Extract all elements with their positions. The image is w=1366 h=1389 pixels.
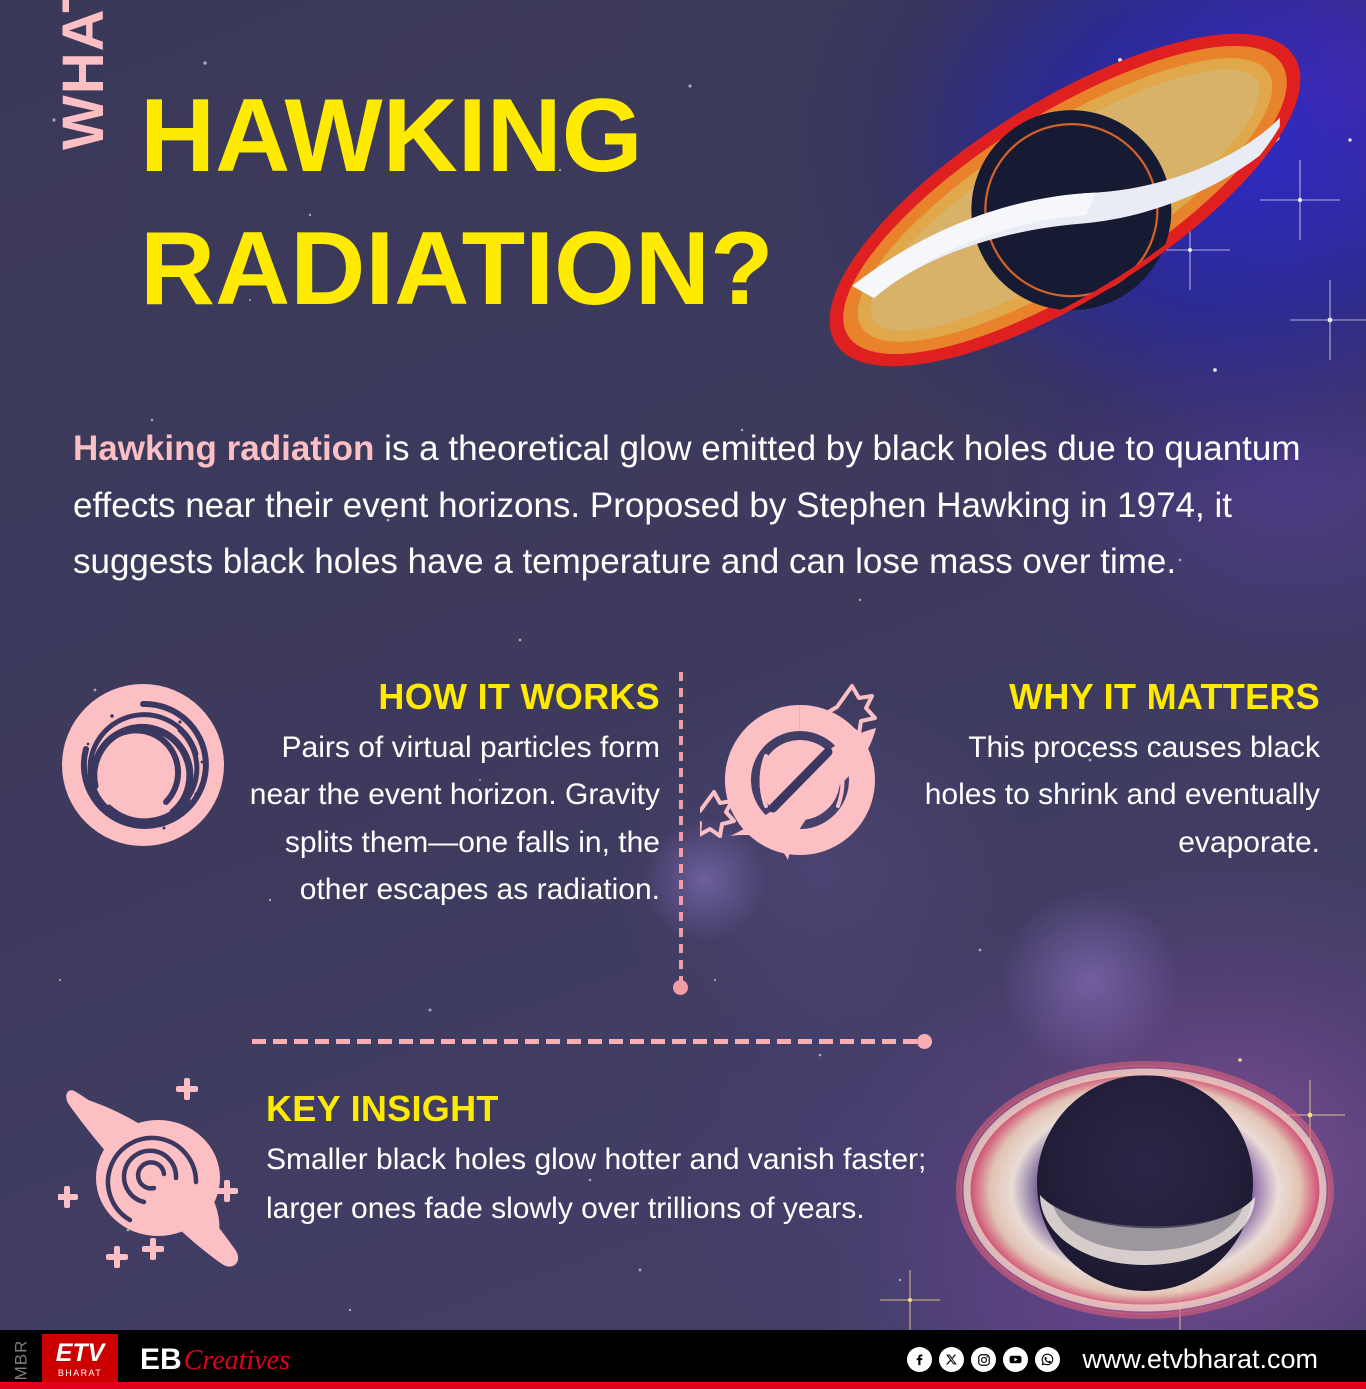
social-icons — [907, 1347, 1060, 1372]
x-twitter-icon[interactable] — [939, 1347, 964, 1372]
youtube-icon[interactable] — [1003, 1347, 1028, 1372]
spiral-galaxy-icon — [58, 1070, 258, 1280]
eb-text: EB — [140, 1343, 182, 1377]
facebook-icon[interactable] — [907, 1347, 932, 1372]
etv-logo-mark: ETV — [56, 1341, 105, 1366]
footer-bar: MBR ETV BHARAT EB Creatives — [0, 1330, 1366, 1389]
evaporating-black-hole-icon — [700, 680, 900, 880]
horizontal-dashed-divider — [252, 1039, 922, 1044]
horizontal-divider-end-dot — [917, 1034, 932, 1049]
website-url[interactable]: www.etvbharat.com — [1082, 1344, 1318, 1375]
creatives-text: Creatives — [184, 1345, 290, 1377]
title-line-1: HAWKING — [140, 70, 930, 203]
etv-logo-sub: BHARAT — [58, 1368, 102, 1378]
section-key-insight: KEY INSIGHT Smaller black holes glow hot… — [58, 1070, 968, 1280]
intro-paragraph: Hawking radiation is a theoretical glow … — [73, 421, 1303, 591]
etv-bharat-logo[interactable]: ETV BHARAT — [42, 1334, 118, 1386]
footer-right-group: www.etvbharat.com — [907, 1344, 1366, 1375]
vertical-dashed-divider — [679, 672, 683, 984]
mbr-label: MBR — [0, 1334, 42, 1386]
kicker-what-is: WHAT IS — [55, 0, 113, 150]
mbr-label-text: MBR — [11, 1339, 31, 1380]
infographic-poster: WHAT IS HAWKING RADIATION? Hawking radia… — [0, 0, 1366, 1389]
whatsapp-icon[interactable] — [1035, 1347, 1060, 1372]
eb-creatives-wordmark: EB Creatives — [140, 1343, 290, 1377]
title-line-2: RADIATION? — [140, 203, 930, 336]
intro-lead-term: Hawking radiation — [73, 429, 374, 468]
section-why-it-matters: WHY IT MATTERS This process causes black… — [700, 676, 1320, 880]
page-title: HAWKING RADIATION? — [140, 70, 930, 336]
vertical-divider-end-dot — [673, 980, 688, 995]
ringed-black-hole-photo — [955, 1055, 1355, 1330]
instagram-icon[interactable] — [971, 1347, 996, 1372]
black-hole-disc-icon — [60, 682, 226, 848]
footer-red-strip — [0, 1382, 1366, 1389]
section-how-it-works: HOW IT WORKS Pairs of virtual particles … — [60, 676, 660, 914]
